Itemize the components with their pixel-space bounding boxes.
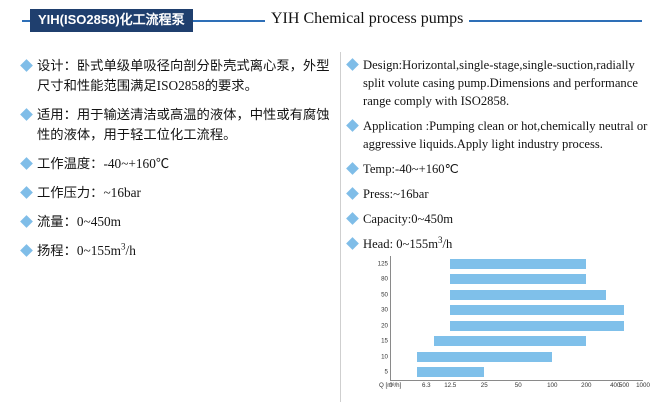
chart-bar: [450, 259, 586, 269]
chart-x-tick-label: 500: [619, 382, 629, 389]
list-item-label: 工作温度：-40~+160℃: [37, 154, 334, 174]
head-value-text: 扬程：0~155m: [37, 243, 121, 258]
list-item-label: Application :Pumping clean or hot,chemic…: [363, 117, 658, 153]
list-item: Temp:-40~+160℃: [348, 160, 658, 178]
left-column: 设计：卧式单级单吸径向剖分卧壳式离心泵，外型尺寸和性能范围满足ISO2858的要…: [22, 56, 334, 270]
diamond-bullet-icon: [346, 212, 359, 225]
head-unit-exponent: 3: [438, 235, 443, 245]
performance-chart: 125805030201510506.312.52550100200400500…: [362, 252, 657, 404]
diamond-bullet-icon: [20, 59, 33, 72]
list-item: Design:Horizontal,single-stage,single-su…: [348, 56, 658, 110]
list-item-label-head: 扬程：0~155m3/h: [37, 241, 334, 261]
list-item: 设计：卧式单级单吸径向剖分卧壳式离心泵，外型尺寸和性能范围满足ISO2858的要…: [22, 56, 334, 96]
diamond-bullet-icon: [20, 244, 33, 257]
list-item-label: 设计：卧式单级单吸径向剖分卧壳式离心泵，外型尺寸和性能范围满足ISO2858的要…: [37, 56, 334, 96]
chart-bar: [450, 305, 624, 315]
list-item-label: 流量：0~450m: [37, 212, 334, 232]
column-divider: [340, 52, 341, 402]
chart-bar: [434, 336, 586, 346]
diamond-bullet-icon: [346, 162, 359, 175]
chart-x-tick-label: 6.3: [422, 382, 431, 389]
diamond-bullet-icon: [346, 237, 359, 250]
list-item-label: Temp:-40~+160℃: [363, 160, 658, 178]
chart-bar: [417, 367, 484, 377]
head-value-text: Head: 0~155m: [363, 237, 438, 251]
chart-bar: [450, 290, 606, 300]
list-item: Application :Pumping clean or hot,chemic…: [348, 117, 658, 153]
list-item-label: 工作压力：~16bar: [37, 183, 334, 203]
chart-plot-area: 125805030201510506.312.52550100200400500…: [390, 256, 643, 381]
chart-bar: [450, 274, 586, 284]
chart-x-tick-label: 1000: [636, 382, 650, 389]
list-item: 工作压力：~16bar: [22, 183, 334, 203]
page-title-en: YIH Chemical process pumps: [265, 10, 469, 28]
chart-x-tick-label: 25: [481, 382, 488, 389]
list-item: 流量：0~450m: [22, 212, 334, 232]
chart-y-tick-label: 10: [381, 353, 388, 360]
list-item: 工作温度：-40~+160℃: [22, 154, 334, 174]
diamond-bullet-icon: [20, 215, 33, 228]
chart-y-tick-label: 125: [378, 260, 388, 267]
list-item-label: 适用：用于输送清洁或高温的液体，中性或有腐蚀性的液体，用于轻工位化工流程。: [37, 105, 334, 145]
chart-y-tick-label: 15: [381, 338, 388, 345]
diamond-bullet-icon: [346, 187, 359, 200]
chart-x-tick-label: 200: [581, 382, 591, 389]
diamond-bullet-icon: [346, 119, 359, 132]
diamond-bullet-icon: [20, 157, 33, 170]
head-unit-exponent: 3: [121, 242, 126, 252]
right-column: Design:Horizontal,single-stage,single-su…: [348, 56, 658, 260]
chart-x-axis-label: Q [m³/h]: [379, 382, 401, 389]
diamond-bullet-icon: [346, 58, 359, 71]
chart-x-tick-label: 100: [547, 382, 557, 389]
list-item-label: Capacity:0~450m: [363, 210, 658, 228]
diamond-bullet-icon: [20, 108, 33, 121]
chart-y-tick-label: 5: [385, 369, 388, 376]
list-item: Capacity:0~450m: [348, 210, 658, 228]
chart-x-tick-label: 50: [515, 382, 522, 389]
list-item: Head: 0~155m3/h: [348, 235, 658, 253]
page-title-cn: YIH(ISO2858)化工流程泵: [30, 9, 193, 32]
list-item-label: Design:Horizontal,single-stage,single-su…: [363, 56, 658, 110]
list-item: 扬程：0~155m3/h: [22, 241, 334, 261]
list-item-label: Press:~16bar: [363, 185, 658, 203]
chart-y-tick-label: 80: [381, 276, 388, 283]
chart-bar: [450, 321, 624, 331]
diamond-bullet-icon: [20, 186, 33, 199]
chart-y-tick-label: 20: [381, 322, 388, 329]
list-item-label-head: Head: 0~155m3/h: [363, 235, 658, 253]
chart-y-tick-label: 50: [381, 291, 388, 298]
list-item: Press:~16bar: [348, 185, 658, 203]
chart-bar: [417, 352, 552, 362]
page-header: YIH(ISO2858)化工流程泵 YIH Chemical process p…: [0, 0, 667, 46]
list-item: 适用：用于输送清洁或高温的液体，中性或有腐蚀性的液体，用于轻工位化工流程。: [22, 105, 334, 145]
chart-x-tick-label: 12.5: [444, 382, 456, 389]
chart-y-tick-label: 30: [381, 307, 388, 314]
